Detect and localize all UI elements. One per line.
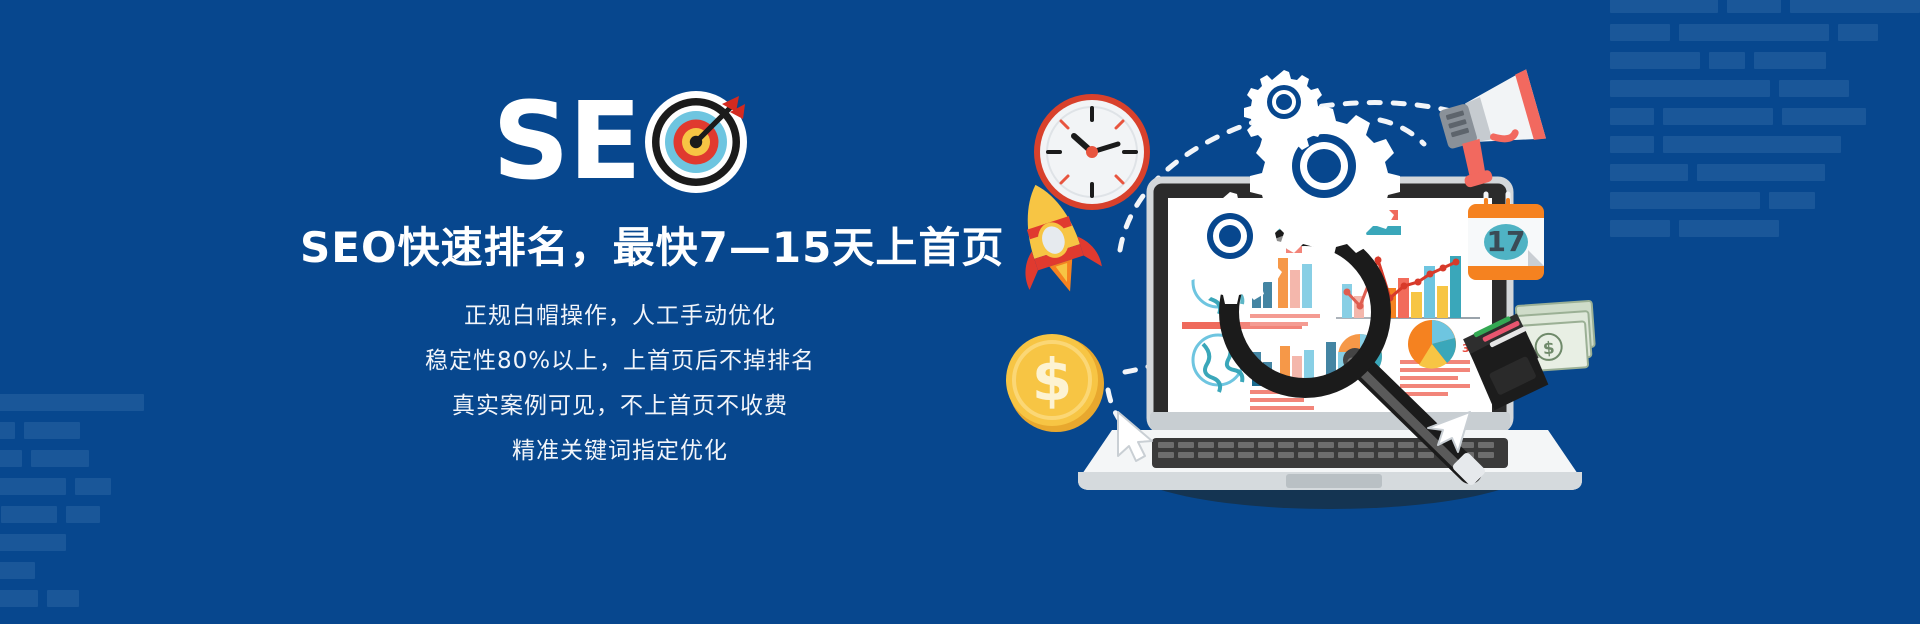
list-item: 稳定性80%以上，上首页后不掉排名 [300,350,940,373]
list-item: 真实案例可见，不上首页不收费 [300,395,940,418]
seo-illustration: 30% [1000,60,1680,560]
code-pattern-bottom-left [0,394,144,618]
calendar-day-label: 17 [1487,225,1526,258]
logo-letters: SE [492,89,640,196]
laptop-trackpad [1286,474,1382,488]
list-item: 正规白帽操作，人工手动优化 [300,305,940,328]
svg-text:$: $ [1542,338,1555,359]
page-title: SEO快速排名，最快7—15天上首页 [300,222,940,275]
feature-list: 正规白帽操作，人工手动优化 稳定性80%以上，上首页后不掉排名 真实案例可见，不… [300,305,940,463]
coin-dollar-symbol: $ [1032,346,1072,414]
coin-icon: $ [1006,334,1104,432]
megaphone-icon [1434,69,1553,190]
text-column: SE SEO快速排名，最快7—15天上首页 [300,88,940,463]
target-bullseye-icon [644,90,748,194]
list-item: 精准关键词指定优化 [300,440,940,463]
seo-banner: SE SEO快速排名，最快7—15天上首页 [0,0,1920,624]
seo-logo: SE [300,88,940,196]
calendar-icon: 17 [1468,194,1544,280]
clock-icon [1034,94,1150,210]
